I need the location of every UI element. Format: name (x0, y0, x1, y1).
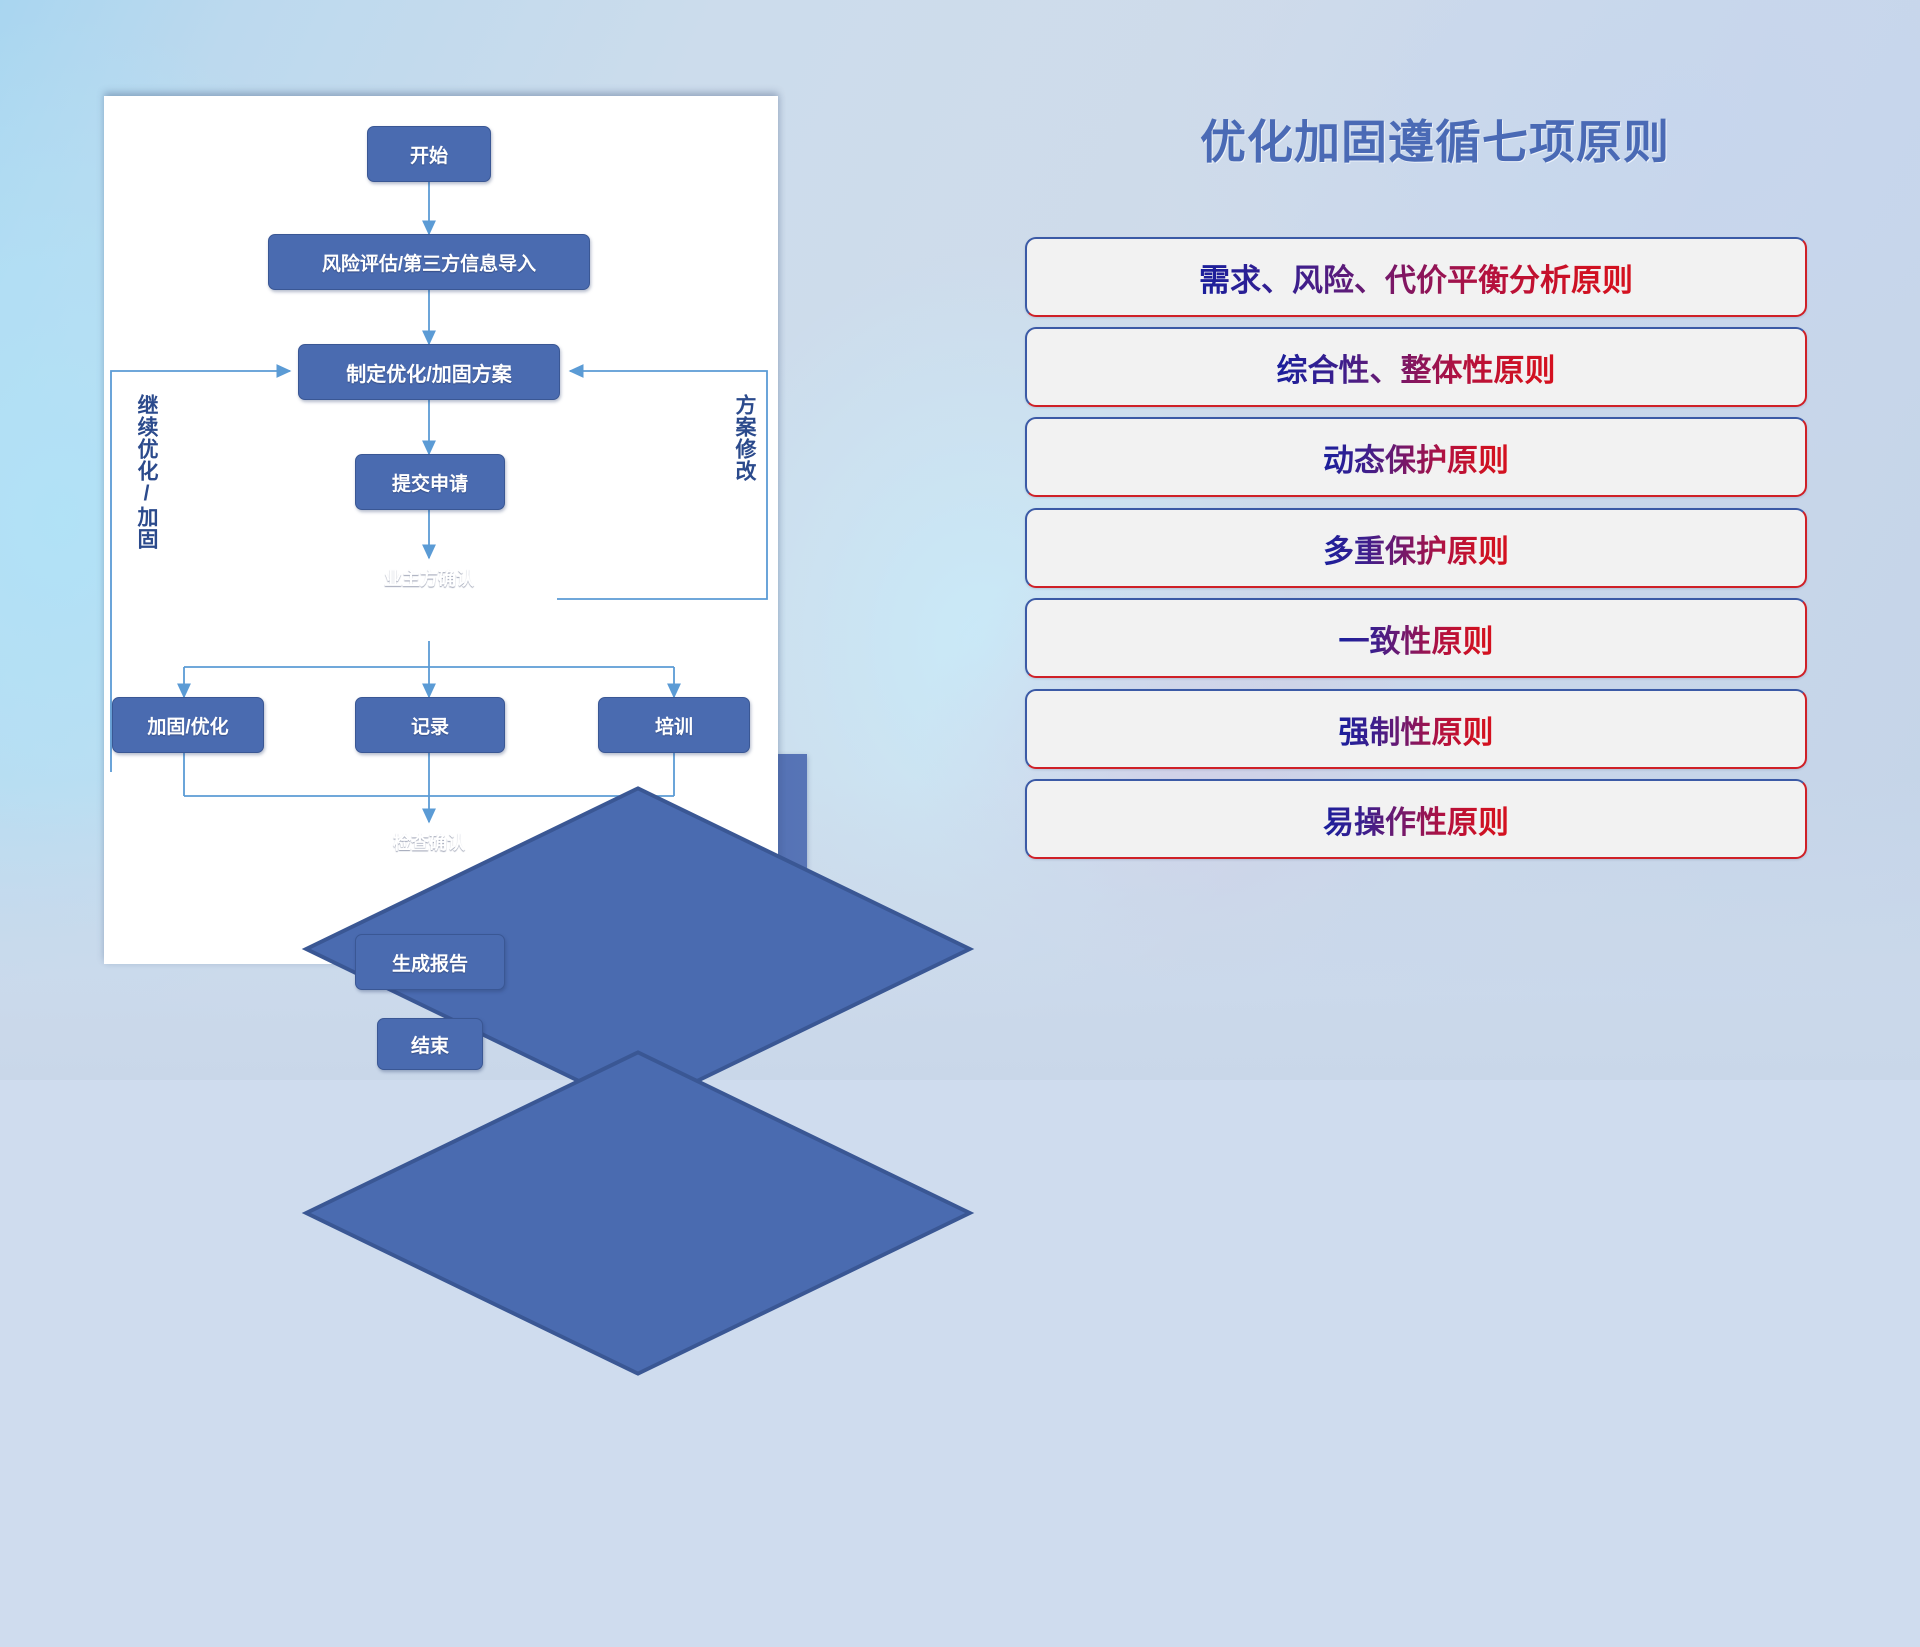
edge-label-right-loop: 方案修改 (734, 394, 755, 524)
principle-card-3[interactable]: 动态保护原则 (1025, 417, 1807, 497)
principle-card-1[interactable]: 需求、风险、代价平衡分析原则 (1025, 237, 1807, 317)
principle-card-4-label: 多重保护原则 (1323, 526, 1509, 571)
node-end[interactable]: 结束 (377, 1018, 483, 1070)
decision-owner-confirm[interactable]: 业主方确认 (301, 515, 557, 641)
decision-check-confirm[interactable]: 检查确认 (301, 779, 557, 905)
principle-card-4[interactable]: 多重保护原则 (1025, 508, 1807, 588)
diamond-shape-check (301, 779, 975, 1647)
principle-card-3-label: 动态保护原则 (1323, 435, 1509, 480)
node-generate-report-label: 生成报告 (392, 949, 468, 976)
node-training-label: 培训 (655, 712, 693, 739)
node-start[interactable]: 开始 (367, 126, 491, 182)
principle-card-6[interactable]: 强制性原则 (1025, 689, 1807, 769)
decision-owner-confirm-label: 业主方确认 (301, 515, 557, 641)
node-record-label: 记录 (411, 712, 449, 739)
principle-card-7-label: 易操作性原则 (1323, 797, 1509, 842)
node-risk-assessment[interactable]: 风险评估/第三方信息导入 (268, 234, 590, 290)
principle-card-5[interactable]: 一致性原则 (1025, 598, 1807, 678)
principle-card-7[interactable]: 易操作性原则 (1025, 779, 1807, 859)
node-record[interactable]: 记录 (355, 697, 505, 753)
principle-card-6-label: 强制性原则 (1339, 707, 1494, 752)
node-reinforce-optimize-label: 加固/优化 (147, 712, 228, 739)
principle-card-2[interactable]: 综合性、整体性原则 (1025, 327, 1807, 407)
principle-card-1-label: 需求、风险、代价平衡分析原则 (1199, 255, 1633, 300)
node-reinforce-optimize[interactable]: 加固/优化 (112, 697, 264, 753)
node-submit-application-label: 提交申请 (392, 469, 468, 496)
principle-card-5-label: 一致性原则 (1339, 616, 1494, 661)
node-end-label: 结束 (411, 1031, 449, 1058)
edge-label-left-loop: 继续优化/加固 (136, 394, 157, 564)
node-start-label: 开始 (410, 141, 448, 168)
decision-check-confirm-label: 检查确认 (301, 779, 557, 905)
page-title: 优化加固遵循七项原则 (1020, 106, 1850, 172)
principles-panel: 优化加固遵循七项原则 需求、风险、代价平衡分析原则 综合性、整体性原则 动态保护… (1020, 100, 1850, 1000)
node-risk-assessment-label: 风险评估/第三方信息导入 (322, 249, 536, 276)
node-generate-report[interactable]: 生成报告 (355, 934, 505, 990)
node-training[interactable]: 培训 (598, 697, 750, 753)
principle-card-2-label: 综合性、整体性原则 (1277, 345, 1556, 390)
node-plan[interactable]: 制定优化/加固方案 (298, 344, 560, 400)
flowchart: 业主方确认 检查确认 开始 风险评估/第三方信息导入 制定优化/加固方案 提交申… (104, 96, 778, 964)
node-plan-label: 制定优化/加固方案 (346, 358, 512, 387)
node-submit-application[interactable]: 提交申请 (355, 454, 505, 510)
